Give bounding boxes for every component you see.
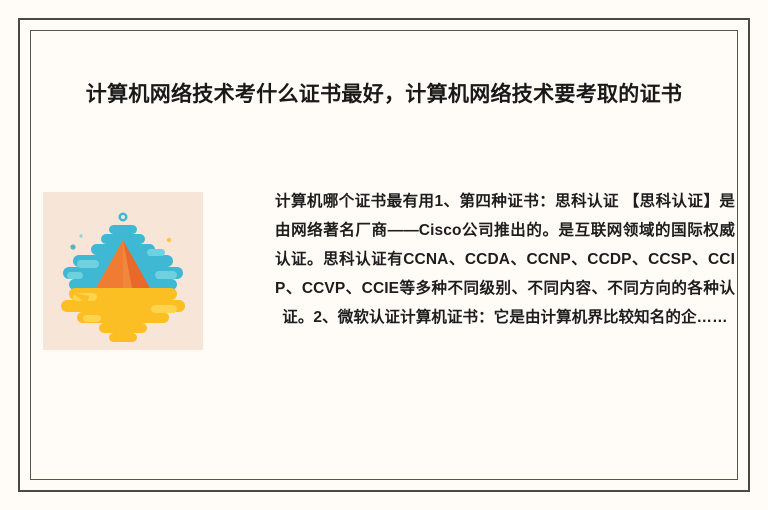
article-excerpt: 计算机哪个证书最有用1、第四种证书：思科认证 【思科认证】是由网络著名厂商——C… (275, 187, 735, 332)
abstract-mountain-clouds-icon (43, 192, 203, 350)
page-title: 计算机网络技术考什么证书最好，计算机网络技术要考取的证书 (55, 79, 713, 111)
card-content: 计算机网络技术考什么证书最好，计算机网络技术要考取的证书 (31, 31, 737, 479)
article-body: 计算机哪个证书最有用1、第四种证书：思科认证 【思科认证】是由网络著名厂商——C… (43, 192, 725, 382)
article-thumbnail[interactable] (43, 192, 203, 350)
article-card-page: 计算机网络技术考什么证书最好，计算机网络技术要考取的证书 (0, 0, 768, 510)
